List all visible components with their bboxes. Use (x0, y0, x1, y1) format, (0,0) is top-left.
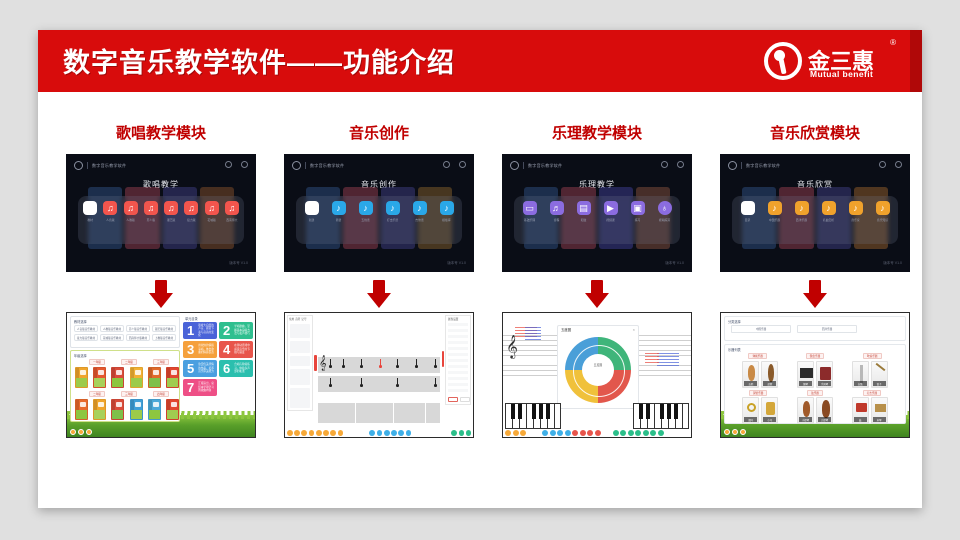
notation-left-panel[interactable]: 常用 音符 记号 (287, 315, 313, 411)
help-icon[interactable] (225, 161, 232, 168)
module-icon-label-3: 视频课 (603, 218, 619, 222)
tool-button[interactable] (338, 430, 344, 436)
tool-button[interactable] (505, 430, 511, 436)
module-icon-7[interactable]: ♫ (225, 201, 239, 215)
app-icon-labels: 教材 人音版 人教版 苏少版 湘艺版 接力版 花城版 西南师大 (80, 218, 242, 222)
module-icon-5[interactable]: ♫ (184, 201, 198, 215)
action-dot[interactable] (732, 429, 738, 435)
action-dot[interactable] (86, 429, 92, 435)
bottom-action-dots[interactable] (724, 429, 746, 435)
textbook-chip[interactable]: 人教版音乐教材 (100, 325, 124, 332)
tool-button[interactable] (520, 430, 526, 436)
app-topbar-actions[interactable] (225, 161, 248, 168)
category-panel: 分类选择 中国乐器 西洋乐器 (724, 316, 906, 341)
notation-properties-title: 属性设置 (448, 317, 458, 321)
unit-text: 欣赏优美抒情的作品，培养音乐审美能力 (198, 363, 217, 373)
tool-button[interactable] (369, 430, 375, 436)
close-icon[interactable]: ✕ (632, 328, 635, 332)
reset-button[interactable] (460, 397, 470, 402)
tool-group[interactable] (290, 388, 310, 408)
module-icon-0[interactable]: ▭ (523, 201, 537, 215)
tool-button[interactable] (580, 430, 586, 436)
textbook-cover[interactable] (130, 399, 143, 420)
unit-card[interactable]: 2 学唱歌曲，掌握基本演唱方法与发声技巧 (219, 322, 253, 339)
clef-icon: 𝄞 (506, 337, 518, 357)
piano-keyboard-right[interactable] (633, 403, 689, 429)
module-icon-label-0: 教材 (82, 218, 98, 222)
app-version-label: 版本号 V1.0 (229, 261, 248, 266)
textbook-chip[interactable]: 人音版音乐教材 (74, 325, 98, 332)
textbook-cover[interactable] (130, 367, 143, 388)
textbook-select-title: 教材选择 (74, 319, 87, 324)
module-icon-0[interactable]: ▦ (83, 201, 97, 215)
headphones-icon[interactable]: ♁ (658, 201, 672, 215)
app-screenshot-textbook-picker[interactable]: 教材选择 人音版音乐教材 人教版音乐教材 苏少版音乐教材 湘艺版音乐教材 接力版… (66, 312, 256, 438)
unit-text: 学唱歌曲，掌握基本演唱方法与发声技巧 (234, 325, 253, 335)
textbook-cover[interactable] (148, 367, 161, 388)
instrument-card[interactable]: 钢琴 (797, 361, 814, 388)
module-icon-label-2: 五线谱 (358, 218, 374, 222)
module-icon-label-5: 音乐知识 (875, 218, 891, 222)
textbook-cover[interactable] (93, 367, 106, 388)
module-icon-label-5: 接力版 (183, 218, 199, 222)
settings-icon[interactable] (895, 161, 902, 168)
module-icon-1[interactable]: ♫ (103, 201, 117, 215)
bottom-action-dots[interactable] (70, 429, 92, 435)
instrument-group-badge: 铜管乐器 (749, 390, 767, 396)
tool-group[interactable] (290, 324, 310, 338)
app-icon-labels: 目录 中国乐器 西洋乐器 名曲赏析 音乐家 音乐知识 (734, 218, 896, 222)
app-screenshot-appreciation-home[interactable]: 数字音乐教学软件 音乐欣赏 ▦ ♪ ♪ ♪ (720, 154, 910, 272)
textbook-cover[interactable] (75, 399, 88, 420)
textbook-select-panel: 教材选择 人音版音乐教材 人教版音乐教材 苏少版音乐教材 湘艺版音乐教材 接力版… (70, 316, 180, 348)
apply-button[interactable] (448, 397, 458, 402)
instrument-name: 钢琴 (799, 381, 812, 386)
instrument-card[interactable]: 手风琴 (816, 361, 833, 388)
app-version-label: 版本号 V1.0 (883, 261, 902, 266)
instrument-name: 大提琴 (818, 417, 831, 422)
tool-button[interactable] (572, 430, 578, 436)
action-dot[interactable] (70, 429, 76, 435)
app-icon-labels: 基础乐理 音程 和弦 视频课 练习 视唱练耳 (516, 218, 678, 222)
unit-number: 1 (183, 324, 198, 337)
tool-button[interactable] (459, 430, 465, 436)
module-icon-label-1: 简谱 (331, 218, 347, 222)
grade-badge[interactable]: 三年级 (121, 391, 137, 397)
unit-number: 2 (219, 324, 234, 337)
module-icon-label-4: 音乐家 (848, 218, 864, 222)
module-title-appreciation: 音乐欣赏模块 (706, 122, 924, 143)
tool-button[interactable] (316, 430, 322, 436)
settings-icon[interactable] (677, 161, 684, 168)
instrument-list-panel: 乐器列表 弹拨乐器 键盘乐器 吹奏乐器 吉他 琵琶 钢琴 (724, 344, 906, 424)
help-icon[interactable] (443, 161, 450, 168)
app-screenshot-singing-home[interactable]: 数字音乐教学软件 歌唱教学 ▦ ♫ ♫ ♫ (66, 154, 256, 272)
grade-select-title: 年级选择 (74, 353, 87, 358)
tool-button[interactable] (391, 430, 397, 436)
logo-name-en: Mutual benefit (810, 69, 873, 79)
tool-button[interactable] (650, 430, 656, 436)
unit-card[interactable]: 3 用欢快的情绪演唱，体会歌曲的情感表达 (183, 341, 217, 358)
textbook-cover[interactable] (166, 399, 179, 420)
circle-of-fifths-title: 五度圈 (561, 327, 571, 332)
unit-card[interactable]: 1 聆听大自然的声音，感受节奏与音高的变化 (183, 322, 217, 339)
app-logo-icon (292, 161, 301, 170)
unit-card[interactable]: 4 在律动游戏中感受音乐的节拍与速度 (219, 341, 253, 358)
notation-tab[interactable]: 记号 (301, 317, 306, 321)
instrument-name: 吉他 (744, 381, 757, 386)
instrument-name: 小号 (763, 417, 776, 422)
app-version-label: 版本号 V1.0 (447, 261, 466, 266)
unit-number: 6 (219, 362, 234, 375)
instrument-name: 手风琴 (818, 381, 831, 386)
tool-button[interactable] (628, 430, 634, 436)
notation-tab[interactable]: 音符 (295, 317, 300, 321)
tool-button[interactable] (557, 430, 563, 436)
instrument-name: 长笛 (854, 381, 867, 386)
tool-button[interactable] (550, 430, 556, 436)
app-screenshot-theory-page[interactable]: 𝄞 五度圈 ✕ 五度圈 (502, 312, 692, 438)
app-logo-icon (510, 161, 519, 170)
staff-line-lower[interactable] (318, 376, 440, 392)
divider (741, 162, 742, 169)
module-icon-label-5: 模板库 (439, 218, 455, 222)
app-icon-row[interactable]: ▭ ♬ ▤ ▶ ▣ ♁ (516, 201, 678, 215)
tool-button[interactable] (398, 430, 404, 436)
module-icon-label-4: 练习 (630, 218, 646, 222)
tool-button[interactable] (406, 430, 412, 436)
down-arrow-icon (367, 280, 391, 308)
instrument-card[interactable]: 笛子 (871, 361, 888, 388)
unit-list-panel: 单元目录 1 聆听大自然的声音，感受节奏与音高的变化 2 学唱歌曲，掌握基本演唱… (183, 316, 254, 434)
theory-toolbar[interactable] (505, 430, 691, 436)
textbook-chip[interactable]: 苏少版音乐教材 (126, 325, 150, 332)
module-columns: 歌唱教学模块 数字音乐教学软件 歌唱教学 (38, 92, 922, 508)
module-icon-label-1: 音程 (549, 218, 565, 222)
app-topbar: 数字音乐教学软件 (292, 161, 344, 170)
instrument-name: 木琴 (873, 417, 886, 422)
tool-group[interactable] (290, 356, 310, 366)
unit-number: 3 (183, 343, 198, 356)
module-title-theory: 乐理教学模块 (488, 122, 706, 143)
instrument-group-badge: 吹奏乐器 (863, 353, 881, 359)
tool-button[interactable] (377, 430, 383, 436)
divider (87, 162, 88, 169)
module-icon-4[interactable]: ♪ (413, 201, 427, 215)
grade-badge[interactable]: 四年级 (153, 391, 169, 397)
unit-card[interactable]: 5 欣赏优美抒情的作品，培养音乐审美能力 (183, 360, 217, 377)
instrument-name: 圆号 (744, 417, 757, 422)
app-brand-label: 数字音乐教学软件 (528, 163, 562, 169)
module-icon-label-3: 打击乐谱 (385, 218, 401, 222)
instrument-name: 鼓 (854, 417, 867, 422)
instrument-card[interactable]: 大提琴 (816, 397, 833, 424)
app-icon-row[interactable]: ▦ ♪ ♪ ♪ ♪ ♪ (734, 201, 896, 215)
tool-button[interactable] (595, 430, 601, 436)
tool-group[interactable] (290, 341, 310, 353)
instrument-card[interactable]: 小提琴 (797, 397, 814, 424)
app-screenshot-creation-home[interactable]: 数字音乐教学软件 音乐创作 ▦ ♪ ♪ ♪ (284, 154, 474, 272)
unit-card[interactable]: 7 汇报演出，总结本学期学习的歌曲内容 (183, 379, 217, 396)
tool-button[interactable] (301, 430, 307, 436)
slide: 数字音乐教学软件——功能介绍 金三惠 ® Mutual benefit 歌唱教学… (38, 30, 922, 508)
unit-text: 在律动游戏中感受音乐的节拍与速度 (234, 344, 253, 354)
app-logo-icon (74, 161, 83, 170)
module-icon-1[interactable]: ♪ (768, 201, 782, 215)
app-screenshot-notation-editor[interactable]: 常用 音符 记号 属性设置 (284, 312, 474, 438)
unit-text: 用欢快的情绪演唱，体会歌曲的情感表达 (198, 344, 217, 354)
logo-mark-icon (764, 42, 802, 80)
instrument-card[interactable]: 鼓 (852, 397, 869, 424)
tool-button[interactable] (613, 430, 619, 436)
tool-button[interactable] (643, 430, 649, 436)
tool-button[interactable] (658, 430, 664, 436)
action-dot[interactable] (740, 429, 746, 435)
instrument-card[interactable]: 小号 (761, 397, 778, 424)
instrument-card[interactable]: 圆号 (742, 397, 759, 424)
action-dot[interactable] (78, 429, 84, 435)
textbook-chip[interactable]: 上教版音乐教材 (152, 334, 176, 341)
app-brand-label: 数字音乐教学软件 (746, 163, 780, 169)
down-arrow-icon (803, 280, 827, 308)
brand-logo: 金三惠 ® Mutual benefit (764, 38, 896, 84)
settings-icon[interactable] (241, 161, 248, 168)
instrument-card[interactable]: 长笛 (852, 361, 869, 388)
module-icon-label-1: 中国乐器 (767, 218, 783, 222)
tool-button[interactable] (620, 430, 626, 436)
annotation-left-2 (525, 327, 541, 341)
instrument-list-title: 乐器列表 (728, 347, 741, 352)
module-icon-5[interactable]: ♪ (440, 201, 454, 215)
tool-button[interactable] (309, 430, 315, 436)
slide-header: 数字音乐教学软件——功能介绍 金三惠 ® Mutual benefit (38, 30, 922, 92)
module-icon-4[interactable]: ♪ (849, 201, 863, 215)
divider (523, 162, 524, 169)
tool-button[interactable] (542, 430, 548, 436)
grade-badge[interactable]: 一年级 (89, 359, 105, 365)
app-version-label: 版本号 V1.0 (665, 261, 684, 266)
module-icon-label-2: 和弦 (576, 218, 592, 222)
clef-icon: 𝄞 (319, 356, 327, 369)
instrument-group-badge: 打击乐器 (863, 390, 881, 396)
app-topbar-actions[interactable] (443, 161, 466, 168)
module-icon-1[interactable]: ♬ (550, 201, 564, 215)
textbook-cover[interactable] (93, 399, 106, 420)
module-icon-2[interactable]: ♪ (795, 201, 809, 215)
tool-group[interactable] (290, 369, 310, 385)
app-icon-row[interactable]: ▦ ♪ ♪ ♪ ♪ ♪ (298, 201, 460, 215)
tool-button[interactable] (587, 430, 593, 436)
module-title-singing: 歌唱教学模块 (52, 122, 270, 143)
module-icon-label-0: 基础乐理 (522, 218, 538, 222)
circle-of-fifths-wheel[interactable] (565, 337, 631, 403)
instrument-card[interactable]: 琵琶 (761, 361, 778, 388)
module-icon-0[interactable]: ▦ (305, 201, 319, 215)
module-icon-label-6: 花城版 (204, 218, 220, 222)
textbook-cover[interactable] (75, 367, 88, 388)
module-icon-2[interactable]: ▤ (577, 201, 591, 215)
module-icon-label-7: 西南师大 (224, 218, 240, 222)
notation-toolbar[interactable] (287, 430, 473, 436)
module-icon-2[interactable]: ♫ (124, 201, 138, 215)
module-icon-2[interactable]: ♪ (359, 201, 373, 215)
annotation-right-2 (645, 353, 659, 365)
instrument-name: 笛子 (873, 381, 886, 386)
help-icon[interactable] (661, 161, 668, 168)
module-icon-label-1: 人音版 (102, 218, 118, 222)
module-icon-4[interactable]: ▣ (631, 201, 645, 215)
help-icon[interactable] (879, 161, 886, 168)
instrument-group-badge: 弦乐器 (807, 390, 823, 396)
instrument-card[interactable]: 吉他 (742, 361, 759, 388)
module-icon-label-3: 名曲赏析 (821, 218, 837, 222)
unit-number: 4 (219, 343, 234, 356)
tool-button[interactable] (287, 430, 293, 436)
unit-number: 5 (183, 362, 198, 375)
app-topbar: 数字音乐教学软件 (510, 161, 562, 170)
tool-button[interactable] (513, 430, 519, 436)
module-icon-3[interactable]: ♫ (144, 201, 158, 215)
circle-of-fifths-center-label: 五度圈 (585, 363, 611, 367)
down-arrow-icon (585, 280, 609, 308)
module-icon-3[interactable]: ♪ (386, 201, 400, 215)
tool-button[interactable] (635, 430, 641, 436)
registered-mark: ® (890, 38, 896, 47)
unit-text: 汇报演出，总结本学期学习的歌曲内容 (198, 382, 217, 392)
annotation-right (657, 353, 679, 367)
module-icon-0[interactable]: ▦ (741, 201, 755, 215)
textbook-chip[interactable]: 湘艺版音乐教材 (152, 325, 176, 332)
category-tab[interactable]: 中国乐器 (731, 325, 791, 333)
category-tab[interactable]: 西洋乐器 (797, 325, 857, 333)
app-topbar: 数字音乐教学软件 (728, 161, 780, 170)
textbook-cover[interactable] (148, 399, 161, 420)
module-icon-6[interactable]: ♫ (205, 201, 219, 215)
tool-button[interactable] (565, 430, 571, 436)
divider (305, 162, 306, 169)
textbook-cover[interactable] (166, 367, 179, 388)
settings-icon[interactable] (459, 161, 466, 168)
app-topbar-actions[interactable] (661, 161, 684, 168)
textbook-cover[interactable] (111, 399, 124, 420)
selection-marker (442, 351, 445, 367)
tool-button[interactable] (323, 430, 329, 436)
unit-text: 聆听大自然的声音，感受节奏与音高的变化 (198, 324, 217, 338)
grade-badge[interactable]: 二年级 (121, 359, 137, 365)
instrument-group-badge: 弹拨乐器 (748, 353, 766, 359)
category-title: 分类选择 (728, 319, 741, 324)
instrument-name: 琵琶 (763, 381, 776, 386)
tool-button[interactable] (294, 430, 300, 436)
notation-right-panel[interactable]: 属性设置 (445, 315, 471, 405)
module-icon-label-4: 吉他谱 (412, 218, 428, 222)
down-arrow-icon (149, 280, 173, 308)
unit-card[interactable]: 6 合唱与轮唱练习，体验多声部的和谐 (219, 360, 253, 377)
tool-button[interactable] (330, 430, 336, 436)
app-screenshot-theory-home[interactable]: 数字音乐教学软件 乐理教学 ▭ ♬ ▤ ▶ (502, 154, 692, 272)
app-topbar-actions[interactable] (879, 161, 902, 168)
notation-tab[interactable]: 常用 (289, 317, 294, 321)
unit-list-title: 单元目录 (185, 316, 198, 321)
module-icon-label-5: 视唱练耳 (657, 218, 673, 222)
module-icon-label-0: 目录 (740, 218, 756, 222)
module-icon-label-3: 苏少版 (143, 218, 159, 222)
action-dot[interactable] (724, 429, 730, 435)
unit-number: 7 (183, 381, 198, 394)
instrument-name: 小提琴 (799, 417, 812, 422)
tool-button[interactable] (384, 430, 390, 436)
module-icon-label-2: 人教版 (123, 218, 139, 222)
app-screenshot-instrument-gallery[interactable]: 分类选择 中国乐器 西洋乐器 乐器列表 弹拨乐器 键盘乐器 吹奏乐器 (720, 312, 910, 438)
module-icon-5[interactable]: ♪ (876, 201, 890, 215)
piano-keyboard-left[interactable] (505, 403, 561, 429)
grade-badge[interactable]: 二年级 (89, 391, 105, 397)
app-topbar: 数字音乐教学软件 (74, 161, 126, 170)
module-icon-label-4: 湘艺版 (163, 218, 179, 222)
module-icon-1[interactable]: ♪ (332, 201, 346, 215)
app-icon-labels: 新建 简谱 五线谱 打击乐谱 吉他谱 模板库 (298, 218, 460, 222)
app-brand-label: 数字音乐教学软件 (92, 163, 126, 169)
app-brand-label: 数字音乐教学软件 (310, 163, 344, 169)
grade-badge[interactable]: 三年级 (153, 359, 169, 365)
tool-button[interactable] (466, 430, 472, 436)
page-title: 数字音乐教学软件——功能介绍 (63, 41, 455, 80)
instrument-group-badge: 键盘乐器 (806, 353, 824, 359)
textbook-chip[interactable]: 接力版音乐教材 (74, 334, 98, 341)
module-title-creation: 音乐创作 (270, 122, 488, 143)
piano-roll[interactable] (318, 403, 440, 423)
textbook-cover[interactable] (111, 367, 124, 388)
textbook-chip[interactable]: 西南师大版教材 (126, 334, 150, 341)
grade-books-panel: 年级选择 一年级 二年级 三年级 二年 (70, 350, 180, 422)
module-icon-3[interactable]: ♪ (822, 201, 836, 215)
module-icon-label-0: 新建 (304, 218, 320, 222)
tool-button[interactable] (451, 430, 457, 436)
module-icon-label-2: 西洋乐器 (794, 218, 810, 222)
selection-marker (314, 355, 317, 371)
app-icon-row[interactable]: ▦ ♫ ♫ ♫ ♫ ♫ ♫ ♫ (80, 201, 242, 215)
module-icon-4[interactable]: ♫ (164, 201, 178, 215)
instrument-card[interactable]: 木琴 (871, 397, 888, 424)
textbook-chip[interactable]: 花城版音乐教材 (100, 334, 124, 341)
app-logo-icon (728, 161, 737, 170)
unit-text: 合唱与轮唱练习，体验多声部的和谐 (234, 363, 253, 373)
module-icon-3[interactable]: ▶ (604, 201, 618, 215)
